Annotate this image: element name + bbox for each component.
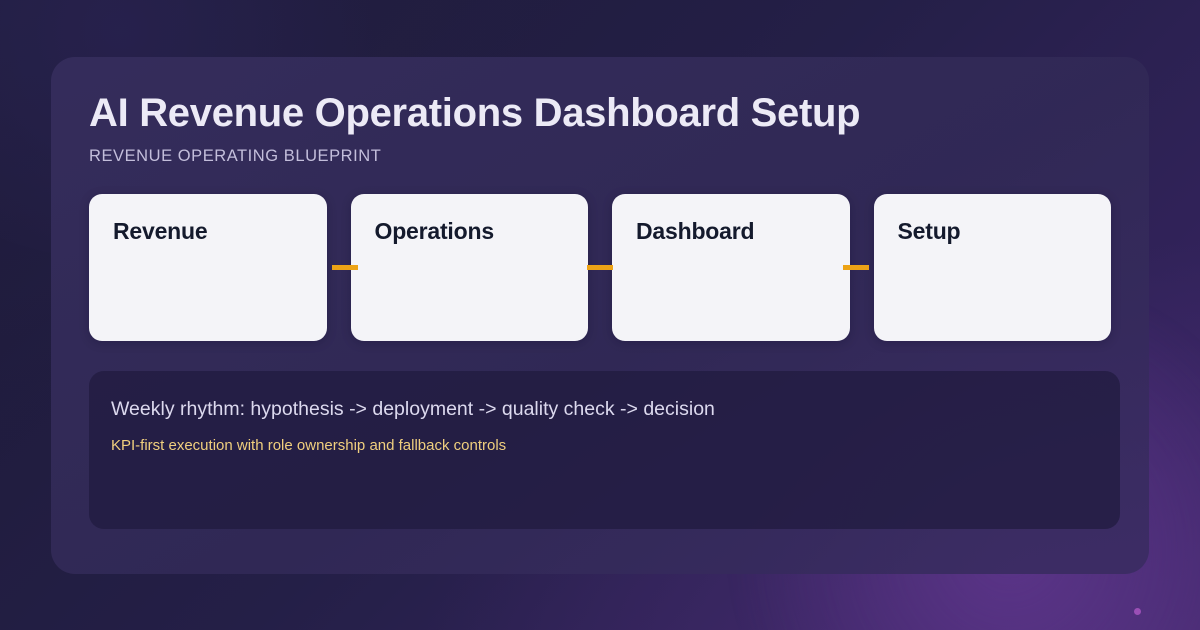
process-card-label: Operations [375,218,565,245]
note-secondary-text: KPI-first execution with role ownership … [111,436,1098,456]
panel-header: AI Revenue Operations Dashboard Setup RE… [89,91,1111,166]
process-cards-row: Revenue Operations Dashboard Setup [89,194,1111,341]
accent-dot [1134,608,1141,615]
card-connector-1 [332,265,358,270]
process-card-operations[interactable]: Operations [351,194,589,341]
page-subtitle: REVENUE OPERATING BLUEPRINT [89,147,1111,166]
process-card-label: Setup [898,218,1088,245]
note-primary-text: Weekly rhythm: hypothesis -> deployment … [111,397,1098,422]
process-card-label: Revenue [113,218,303,245]
process-card-label: Dashboard [636,218,826,245]
card-connector-3 [843,265,869,270]
page-title: AI Revenue Operations Dashboard Setup [89,91,1111,136]
main-panel: AI Revenue Operations Dashboard Setup RE… [51,57,1149,574]
process-card-dashboard[interactable]: Dashboard [612,194,850,341]
process-card-revenue[interactable]: Revenue [89,194,327,341]
summary-note-panel: Weekly rhythm: hypothesis -> deployment … [89,371,1120,529]
process-card-setup[interactable]: Setup [874,194,1112,341]
card-connector-2 [587,265,613,270]
